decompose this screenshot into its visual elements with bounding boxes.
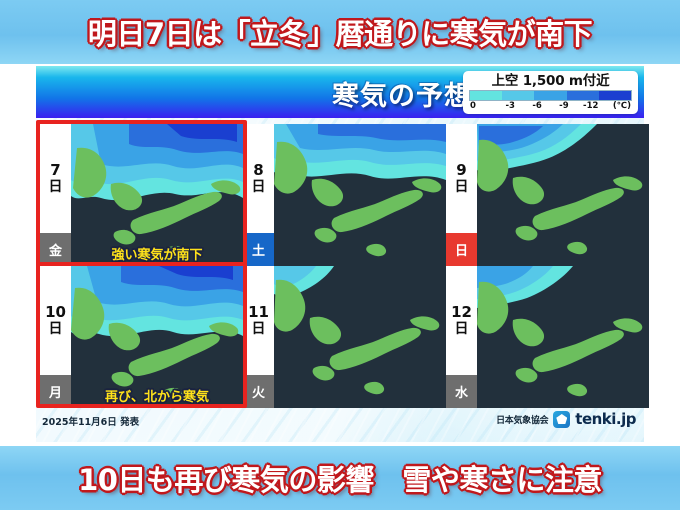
- date-kanji-11: 日: [252, 321, 266, 337]
- bottom-banner-text: 10日も再び寒気の影響 雪や寒さに注意: [78, 457, 602, 499]
- map-svg-9: [477, 124, 649, 266]
- date-kanji-12: 日: [455, 321, 469, 337]
- brand-credit: 日本気象協会 tenki.jp: [496, 410, 636, 428]
- date-number-wrap-8: 8 日: [243, 124, 274, 233]
- day-of-week-12: 水: [446, 375, 477, 408]
- map-annotation-10: 再び、北から寒気: [105, 386, 209, 405]
- forecast-panel-11[interactable]: 11 日 火: [243, 266, 446, 408]
- organization-name: 日本気象協会: [496, 413, 548, 426]
- date-number-wrap-11: 11 日: [243, 266, 274, 375]
- date-label-10: 10 日 月: [40, 266, 71, 408]
- forecast-panel-10[interactable]: 10 日 月: [40, 266, 243, 408]
- day-of-week-11: 火: [243, 375, 274, 408]
- map-annotation-7: 強い寒気が南下: [111, 244, 202, 263]
- date-label-12: 12 日 水: [446, 266, 477, 408]
- date-number-wrap-12: 12 日: [446, 266, 477, 375]
- card-title: 寒気の予想: [36, 72, 486, 114]
- weather-forecast-graphic: 明日7日は「立冬」暦通りに寒気が南下 寒気の予想 上空 1,500 m付近 0 …: [0, 0, 680, 510]
- date-number-11: 11: [248, 305, 269, 320]
- brand-name: tenki.jp: [575, 410, 636, 428]
- date-number-wrap-9: 9 日: [446, 124, 477, 233]
- legend-swatch-9: [567, 91, 599, 100]
- forecast-panel-12[interactable]: 12 日 水: [446, 266, 649, 408]
- date-number-8: 8: [253, 163, 263, 178]
- forecast-panel-grid: 7 日 金: [36, 122, 644, 410]
- weather-map-9[interactable]: [477, 124, 649, 266]
- date-label-8: 8 日 土: [243, 124, 274, 266]
- legend-tick-labels: 0 -3 -6 -9 -12 (℃): [469, 101, 632, 111]
- day-of-week-8: 土: [243, 233, 274, 266]
- legend-swatch-12: [599, 91, 631, 100]
- top-banner: 明日7日は「立冬」暦通りに寒気が南下: [0, 0, 680, 64]
- legend-unit: (℃): [604, 101, 632, 111]
- weather-map-8[interactable]: [274, 124, 446, 266]
- date-number-wrap-7: 7 日: [40, 124, 71, 233]
- date-label-7: 7 日 金: [40, 124, 71, 266]
- day-of-week-10: 月: [40, 375, 71, 408]
- date-kanji-9: 日: [455, 179, 469, 195]
- weather-map-7[interactable]: 強い寒気が南下: [71, 124, 243, 266]
- forecast-panel-9[interactable]: 9 日 日: [446, 124, 649, 266]
- legend-color-bar: [469, 90, 632, 101]
- top-banner-text: 明日7日は「立冬」暦通りに寒気が南下: [88, 11, 592, 53]
- day-of-week-7: 金: [40, 233, 71, 266]
- date-number-9: 9: [456, 163, 466, 178]
- legend-tick-0: 0: [469, 101, 497, 111]
- legend-title: 上空 1,500 m付近: [469, 73, 632, 89]
- date-kanji-10: 日: [49, 321, 63, 337]
- date-kanji-8: 日: [252, 179, 266, 195]
- day-of-week-9: 日: [446, 233, 477, 266]
- date-number-12: 12: [451, 305, 472, 320]
- date-number-wrap-10: 10 日: [40, 266, 71, 375]
- date-label-11: 11 日 火: [243, 266, 274, 408]
- date-number-10: 10: [45, 305, 66, 320]
- legend-tick-3: -3: [497, 101, 524, 111]
- legend-swatch-0: [470, 91, 502, 100]
- map-svg-8: [274, 124, 446, 266]
- forecast-panel-8[interactable]: 8 日 土: [243, 124, 446, 266]
- legend-swatch-3: [502, 91, 534, 100]
- legend-tick-12: -12: [577, 101, 604, 111]
- date-label-9: 9 日 日: [446, 124, 477, 266]
- weather-map-12[interactable]: [477, 266, 649, 408]
- bottom-banner: 10日も再び寒気の影響 雪や寒さに注意: [0, 446, 680, 510]
- legend-tick-9: -9: [550, 101, 577, 111]
- weather-map-11[interactable]: [274, 266, 446, 408]
- date-number-7: 7: [50, 163, 60, 178]
- weather-map-10[interactable]: 再び、北から寒気: [71, 266, 243, 408]
- issued-date: 2025年11月6日 発表: [42, 414, 139, 428]
- map-svg-11: [274, 266, 446, 408]
- card-header: 寒気の予想 上空 1,500 m付近 0 -3 -6 -9 -12 (℃): [36, 66, 644, 118]
- forecast-panel-7[interactable]: 7 日 金: [40, 124, 243, 266]
- forecast-card: 寒気の予想 上空 1,500 m付近 0 -3 -6 -9 -12 (℃): [36, 66, 644, 442]
- legend-swatch-6: [534, 91, 566, 100]
- tenki-logo-icon: [553, 411, 570, 428]
- legend-tick-6: -6: [524, 101, 551, 111]
- map-svg-12: [477, 266, 649, 408]
- date-kanji-7: 日: [49, 179, 63, 195]
- temperature-legend: 上空 1,500 m付近 0 -3 -6 -9 -12 (℃): [463, 71, 638, 114]
